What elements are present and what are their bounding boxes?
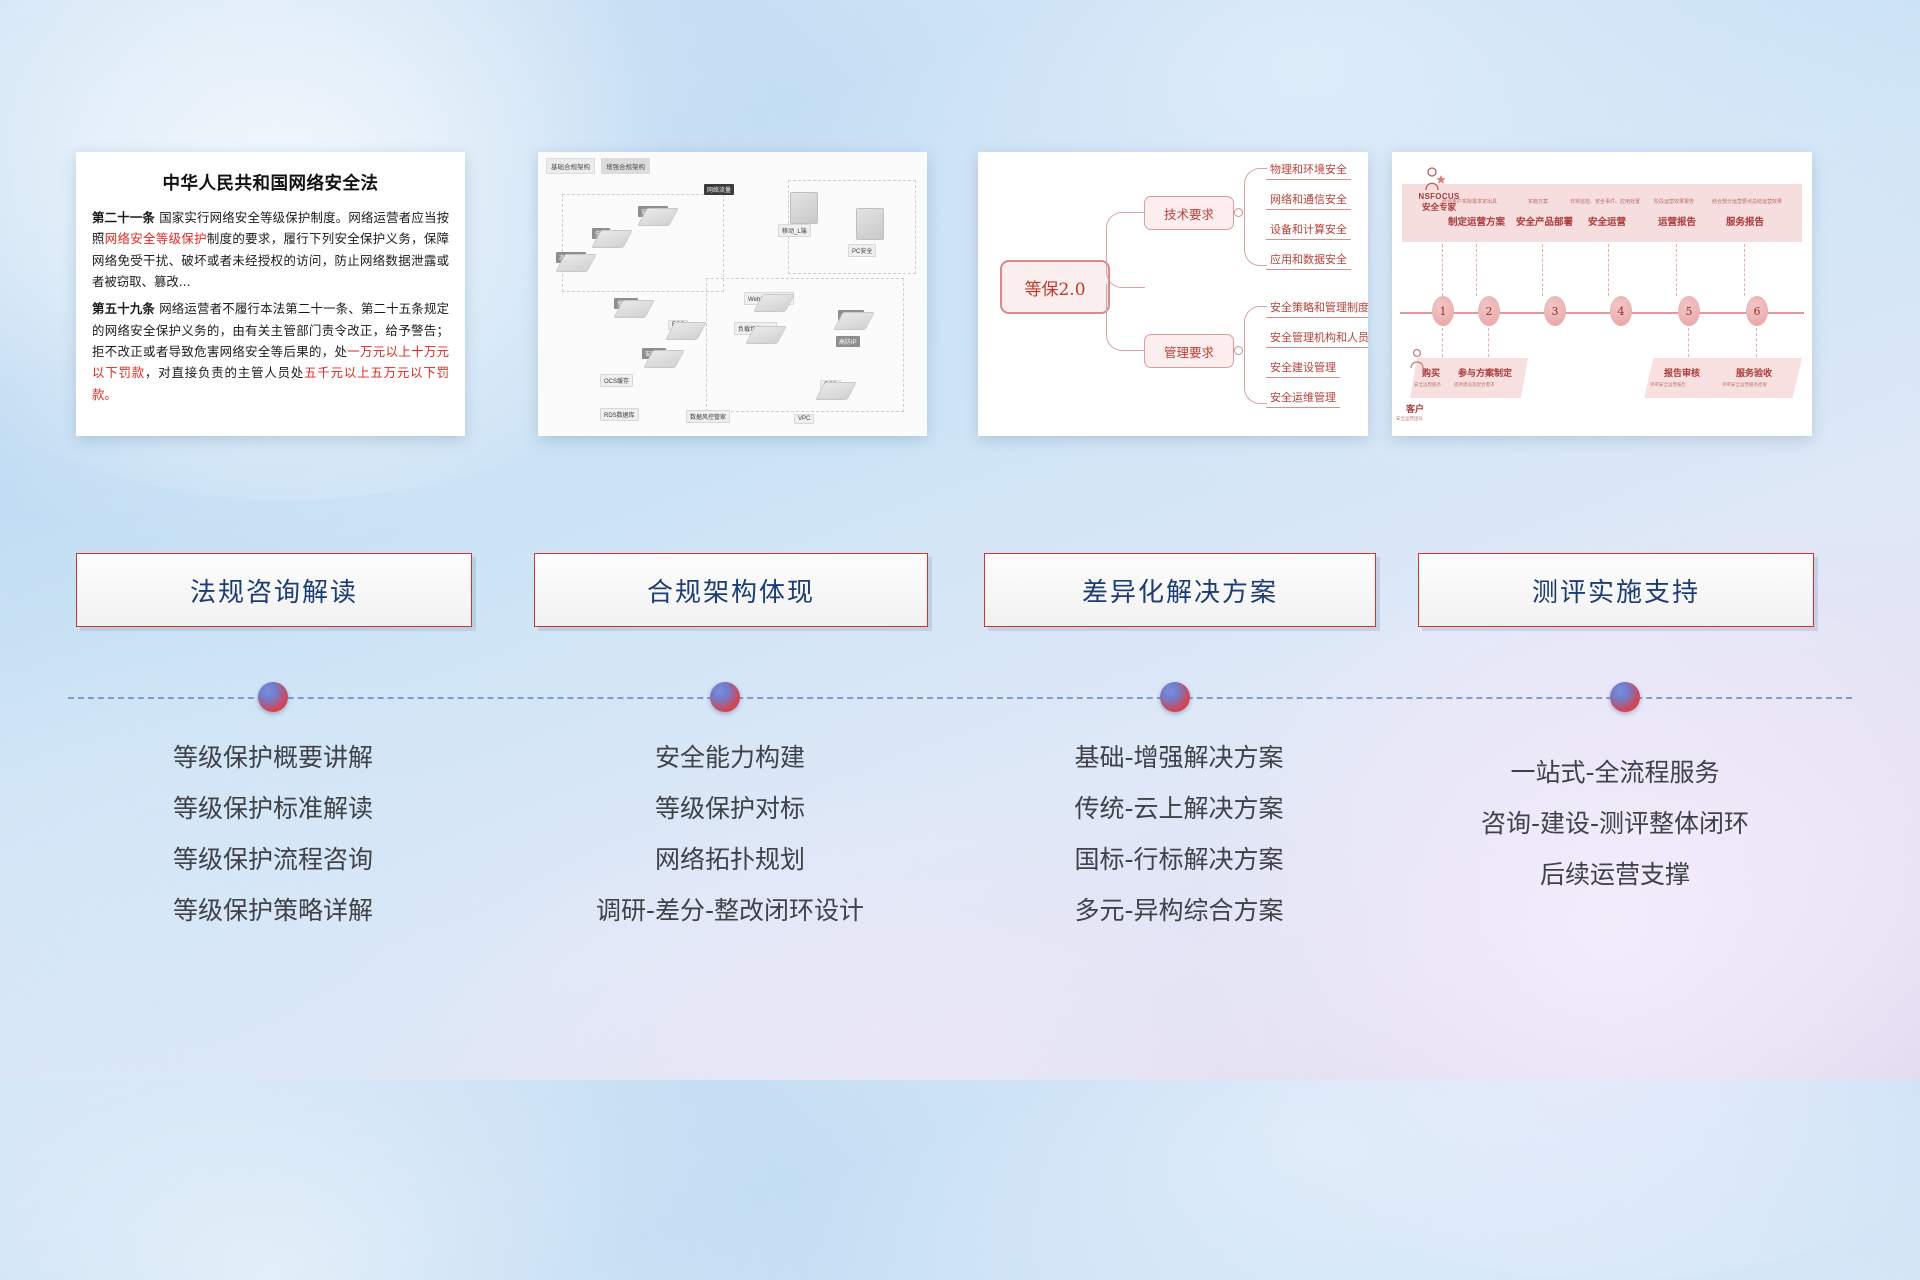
list-item: 网络拓扑规划	[534, 847, 926, 872]
list-item: 多元-异构综合方案	[984, 898, 1374, 923]
list-item: 后续运营支撑	[1418, 862, 1812, 887]
list-item: 基础-增强解决方案	[984, 745, 1374, 770]
list-item: 等级保护概要讲解	[76, 745, 470, 770]
list-item: 安全能力构建	[534, 745, 926, 770]
list-item: 传统-云上解决方案	[984, 796, 1374, 821]
list-item: 等级保护标准解读	[76, 796, 470, 821]
list-item: 咨询-建设-测评整体闭环	[1418, 811, 1812, 836]
list-item: 调研-差分-整改闭环设计	[534, 898, 926, 923]
section-list-4: 一站式-全流程服务 咨询-建设-测评整体闭环 后续运营支撑	[1418, 760, 1812, 913]
list-item: 一站式-全流程服务	[1418, 760, 1812, 785]
section-list-2: 安全能力构建 等级保护对标 网络拓扑规划 调研-差分-整改闭环设计	[534, 745, 926, 949]
section-list-1: 等级保护概要讲解 等级保护标准解读 等级保护流程咨询 等级保护策略详解	[76, 745, 470, 949]
list-item: 等级保护对标	[534, 796, 926, 821]
list-item: 国标-行标解决方案	[984, 847, 1374, 872]
section-list-3: 基础-增强解决方案 传统-云上解决方案 国标-行标解决方案 多元-异构综合方案	[984, 745, 1374, 949]
section-lists: 等级保护概要讲解 等级保护标准解读 等级保护流程咨询 等级保护策略详解 安全能力…	[0, 0, 1920, 1080]
list-item: 等级保护策略详解	[76, 898, 470, 923]
list-item: 等级保护流程咨询	[76, 847, 470, 872]
